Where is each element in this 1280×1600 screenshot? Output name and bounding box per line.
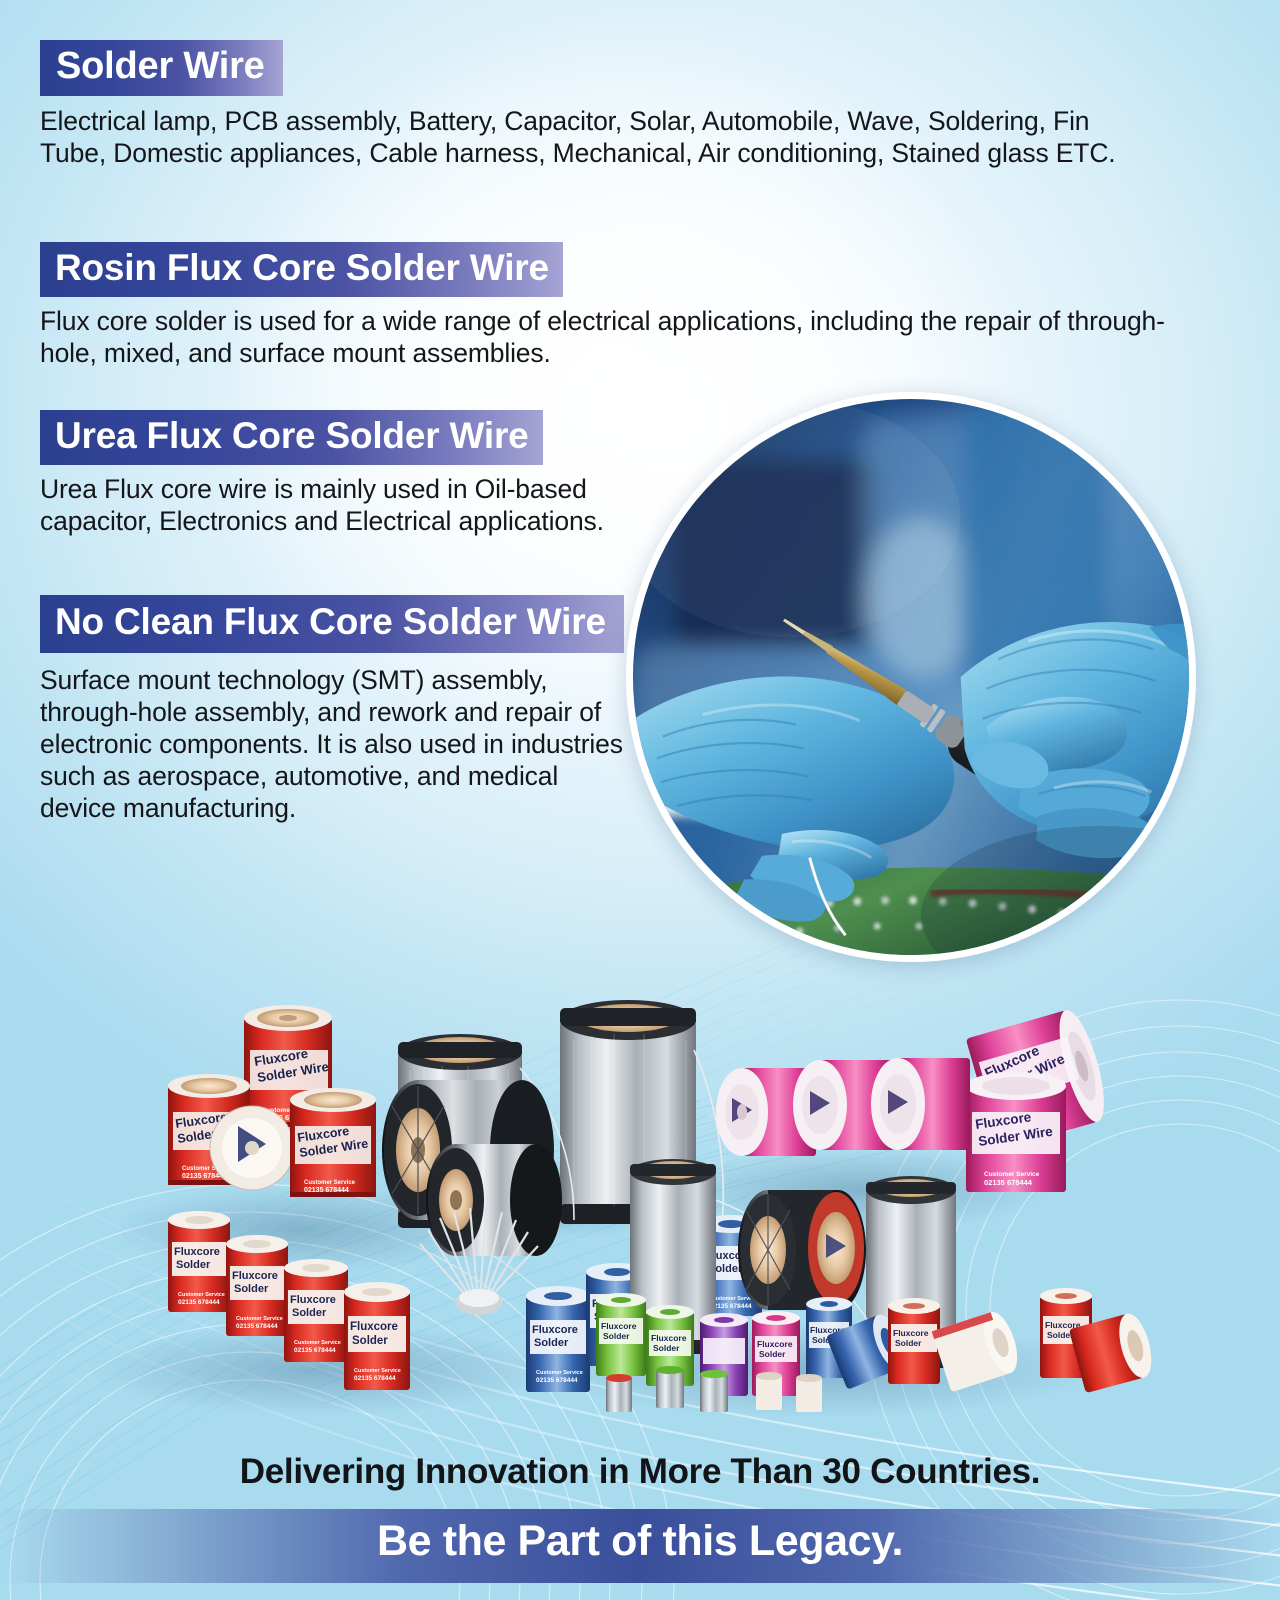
body-solder-wire: Electrical lamp, PCB assembly, Battery, …	[40, 105, 1150, 169]
heading-solder-wire: Solder Wire	[40, 40, 283, 96]
section-urea-flux-core-solder-wire: Urea Flux Core Solder Wire Urea Flux cor…	[40, 410, 660, 537]
svg-text:Fluxcore: Fluxcore	[974, 1109, 1032, 1132]
svg-text:02135 678444: 02135 678444	[354, 1375, 396, 1382]
svg-text:Solder: Solder	[895, 1338, 922, 1348]
svg-text:Fluxcore: Fluxcore	[650, 1274, 696, 1286]
svg-text:Customer Service: Customer Service	[984, 1171, 1040, 1178]
svg-text:Fluxcore: Fluxcore	[757, 1339, 793, 1349]
svg-text:Fluxcore: Fluxcore	[893, 1328, 929, 1338]
svg-text:Solder Wire: Solder Wire	[176, 1122, 247, 1146]
svg-text:Customer Service: Customer Service	[1008, 1104, 1063, 1126]
svg-text:Fluxcore: Fluxcore	[651, 1333, 687, 1343]
svg-text:Solder: Solder	[708, 1263, 743, 1275]
svg-text:Fluxcore: Fluxcore	[174, 1110, 228, 1131]
svg-text:Solder Wire: Solder Wire	[977, 1124, 1054, 1149]
svg-text:02135 678444: 02135 678444	[984, 1178, 1033, 1187]
svg-text:Fluxcore: Fluxcore	[296, 1124, 350, 1145]
svg-text:Customer Service: Customer Service	[182, 1166, 234, 1172]
section-no-clean-flux-core-solder-wire: No Clean Flux Core Solder Wire Surface m…	[40, 595, 660, 824]
svg-text:Solder Wire: Solder Wire	[256, 1059, 330, 1085]
svg-text:Solder Wire: Solder Wire	[990, 1050, 1067, 1097]
svg-text:Solder: Solder	[652, 1287, 687, 1299]
svg-text:Customer Service: Customer Service	[304, 1180, 356, 1186]
svg-text:Fluxcore: Fluxcore	[253, 1046, 309, 1069]
svg-text:Solder: Solder	[594, 1311, 629, 1323]
svg-text:02135 678444: 02135 678444	[178, 1299, 220, 1306]
body-rosin-flux-core-solder-wire: Flux core solder is used for a wide rang…	[40, 305, 1165, 369]
svg-text:02135 678444: 02135 678444	[596, 1351, 638, 1358]
svg-text:Solder: Solder	[534, 1337, 569, 1349]
body-no-clean-flux-core-solder-wire: Surface mount technology (SMT) assembly,…	[40, 664, 640, 824]
heading-no-clean-flux-core-solder-wire: No Clean Flux Core Solder Wire	[40, 595, 624, 653]
tagline-secondary: Be the Part of this Legacy.	[0, 1517, 1280, 1566]
svg-text:Solder: Solder	[176, 1259, 211, 1271]
section-rosin-flux-core-solder-wire: Rosin Flux Core Solder Wire Flux core so…	[40, 242, 1170, 369]
svg-text:02135 678444: 02135 678444	[304, 1187, 349, 1194]
svg-text:02135 678444: 02135 678444	[654, 1327, 696, 1334]
svg-text:Customer Service: Customer Service	[710, 1296, 757, 1302]
svg-text:Customer Service: Customer Service	[654, 1320, 701, 1326]
svg-text:Customer Service: Customer Service	[536, 1370, 583, 1376]
svg-text:Fluxcore: Fluxcore	[601, 1321, 637, 1331]
soldering-photo-circle	[626, 392, 1196, 962]
svg-text:02135 678444: 02135 678444	[236, 1323, 278, 1330]
svg-text:Fluxcore: Fluxcore	[290, 1294, 336, 1306]
svg-text:Solder: Solder	[759, 1349, 786, 1359]
section-solder-wire: Solder Wire Electrical lamp, PCB assembl…	[40, 40, 1170, 169]
solder-spool-product-photo: Fluxcore Solder Wire Customer Service 02…	[0, 900, 1280, 1460]
poster-page: Solder Wire Electrical lamp, PCB assembl…	[0, 0, 1280, 1600]
svg-text:02135 678444: 02135 678444	[710, 1303, 752, 1310]
svg-text:02135 678444: 02135 678444	[294, 1347, 336, 1354]
svg-text:Fluxcore: Fluxcore	[1045, 1320, 1081, 1330]
svg-text:Customer Service: Customer Service	[354, 1368, 401, 1374]
svg-text:Fluxcore: Fluxcore	[592, 1298, 638, 1310]
svg-text:Customer Service: Customer Service	[294, 1340, 341, 1346]
svg-text:Solder: Solder	[234, 1283, 269, 1295]
svg-text:Solder: Solder	[603, 1331, 630, 1341]
svg-text:02135 678444: 02135 678444	[182, 1173, 227, 1180]
svg-text:Fluxcore: Fluxcore	[982, 1042, 1042, 1081]
svg-text:Fluxcore: Fluxcore	[350, 1321, 398, 1333]
svg-text:Solder Wire: Solder Wire	[298, 1136, 369, 1160]
svg-text:Solder: Solder	[812, 1335, 839, 1345]
svg-text:02135 678444: 02135 678444	[262, 1113, 311, 1122]
svg-text:Fluxcore: Fluxcore	[532, 1324, 578, 1336]
svg-text:Customer Service: Customer Service	[178, 1292, 225, 1298]
svg-text:Customer Service: Customer Service	[596, 1344, 643, 1350]
svg-text:Customer Service: Customer Service	[236, 1316, 283, 1322]
svg-text:Solder: Solder	[653, 1343, 680, 1353]
svg-text:Fluxcore: Fluxcore	[810, 1325, 846, 1335]
soldering-photo-illustration	[633, 399, 1189, 955]
svg-text:Fluxcore: Fluxcore	[706, 1250, 752, 1262]
svg-text:Fluxcore: Fluxcore	[174, 1246, 220, 1258]
tagline-primary: Delivering Innovation in More Than 30 Co…	[0, 1452, 1280, 1492]
body-urea-flux-core-solder-wire: Urea Flux core wire is mainly used in Oi…	[40, 473, 620, 537]
svg-text:02135 678444: 02135 678444	[536, 1377, 578, 1384]
svg-text:Solder: Solder	[292, 1307, 327, 1319]
svg-text:Solder: Solder	[1047, 1330, 1074, 1340]
heading-urea-flux-core-solder-wire: Urea Flux Core Solder Wire	[40, 410, 543, 465]
svg-text:02135 678444: 02135 678444	[1010, 1113, 1059, 1135]
svg-text:Solder: Solder	[352, 1335, 388, 1347]
svg-text:Customer Service: Customer Service	[262, 1107, 318, 1114]
heading-rosin-flux-core-solder-wire: Rosin Flux Core Solder Wire	[40, 242, 563, 297]
svg-text:Fluxcore: Fluxcore	[232, 1270, 278, 1282]
